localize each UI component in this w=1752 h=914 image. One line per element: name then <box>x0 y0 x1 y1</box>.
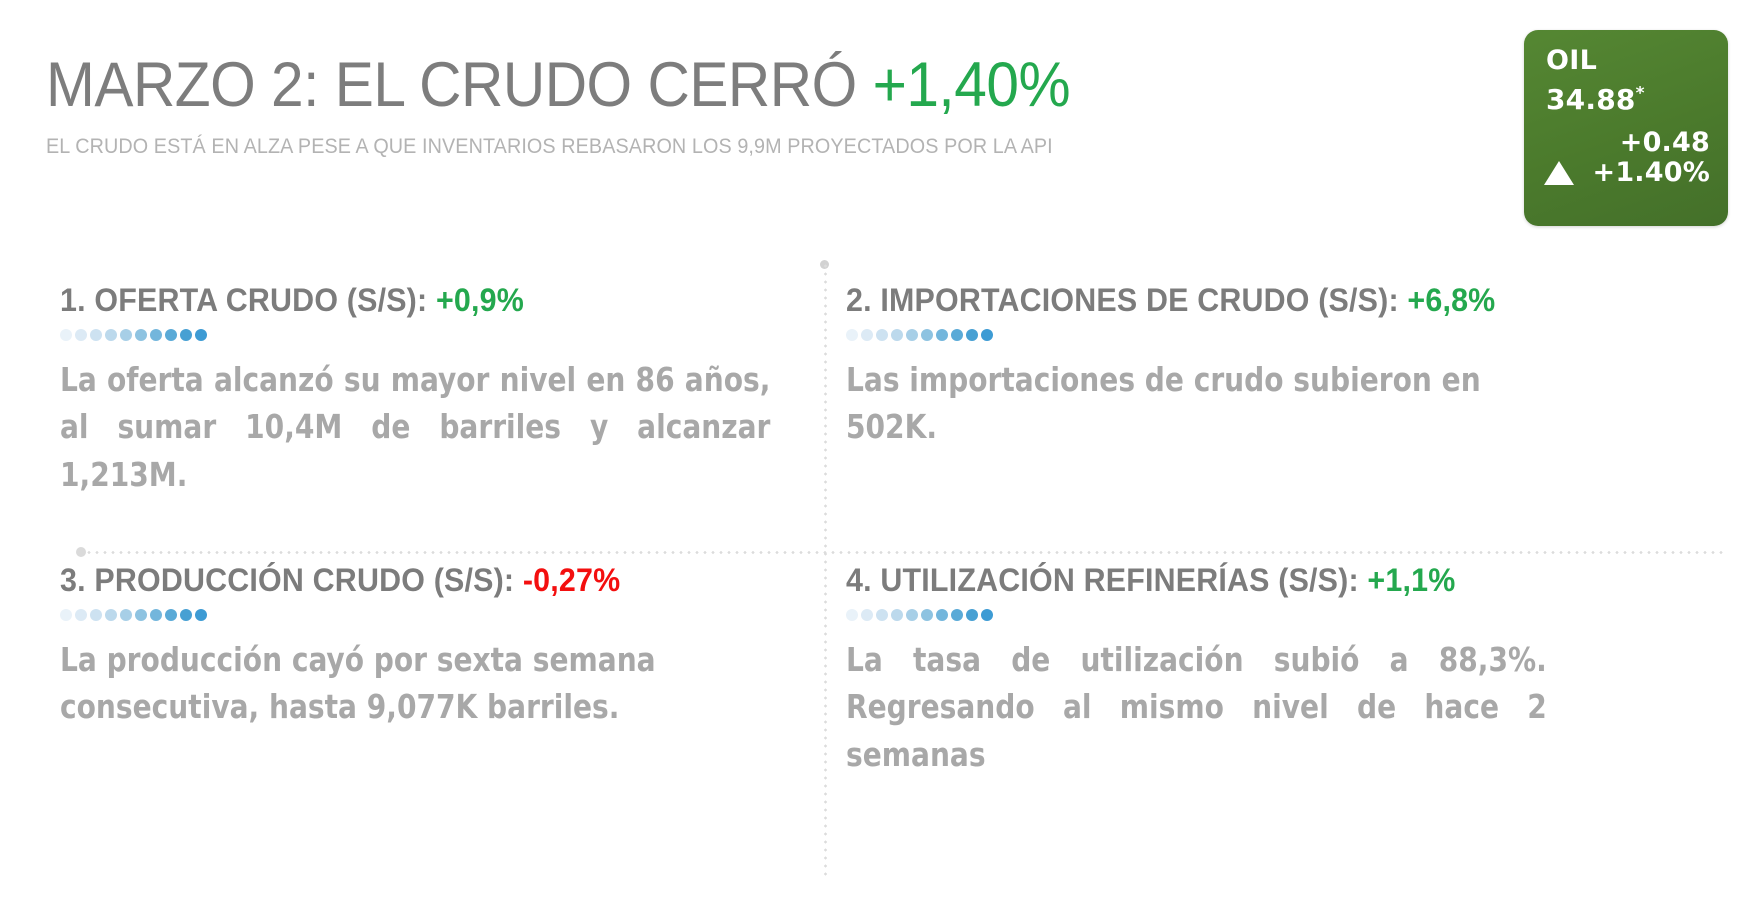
metric-description: La producción cayó por sexta semana cons… <box>60 637 732 779</box>
divider-vertical <box>824 262 827 878</box>
page-header: MARZO 2: EL CRUDO CERRÓ +1,40% EL CRUDO … <box>46 52 1476 159</box>
meter-dot <box>150 609 162 621</box>
metric-label: IMPORTACIONES DE CRUDO (S/S): <box>880 282 1398 318</box>
metric-label: OFERTA CRUDO (S/S): <box>94 282 427 318</box>
meter-dot <box>906 609 918 621</box>
metric-description: La oferta alcanzó su mayor nivel en 86 a… <box>60 357 770 547</box>
metric-label: PRODUCCIÓN CRUDO (S/S): <box>94 562 514 598</box>
metric-value: +1,1% <box>1367 562 1455 598</box>
metric-dot-meter <box>846 329 1736 341</box>
oil-symbol-label: OIL <box>1546 46 1710 76</box>
meter-dot <box>951 609 963 621</box>
meter-dot <box>165 609 177 621</box>
divider-horizontal <box>85 551 1725 554</box>
metric-dot-meter <box>60 329 795 341</box>
metric-description: La tasa de utilización subió a 88,3%. Re… <box>846 637 1547 827</box>
meter-dot <box>105 609 117 621</box>
meter-dot <box>876 609 888 621</box>
meter-dot <box>981 329 993 341</box>
meter-dot <box>936 609 948 621</box>
metric-heading: 2. IMPORTACIONES DE CRUDO (S/S): +6,8% <box>846 282 1692 319</box>
metric-value: -0,27% <box>523 562 620 598</box>
meter-dot <box>906 329 918 341</box>
meter-dot <box>90 329 102 341</box>
meter-dot <box>921 609 933 621</box>
meter-dot <box>135 609 147 621</box>
metric-card-utilizacion-refinerias: 4. UTILIZACIÓN REFINERÍAS (S/S): +1,1% L… <box>846 562 1736 827</box>
metric-index: 1. <box>60 282 86 318</box>
oil-price-value: 34.88* <box>1546 83 1710 116</box>
meter-dot <box>966 609 978 621</box>
meter-dot <box>75 609 87 621</box>
meter-dot <box>951 329 963 341</box>
metric-dot-meter <box>60 609 795 621</box>
meter-dot <box>180 609 192 621</box>
triangle-up-icon <box>1544 161 1574 185</box>
meter-dot <box>861 609 873 621</box>
metric-card-oferta-crudo: 1. OFERTA CRUDO (S/S): +0,9% La oferta a… <box>60 282 795 547</box>
meter-dot <box>135 329 147 341</box>
meter-dot <box>60 609 72 621</box>
meter-dot <box>150 329 162 341</box>
metric-index: 3. <box>60 562 86 598</box>
metric-heading: 1. OFERTA CRUDO (S/S): +0,9% <box>60 282 758 319</box>
meter-dot <box>195 609 207 621</box>
oil-price-asterisk: * <box>1636 83 1645 103</box>
meter-dot <box>936 329 948 341</box>
meter-dot <box>861 329 873 341</box>
metric-value: +0,9% <box>436 282 524 318</box>
page-title-text: MARZO 2: EL CRUDO CERRÓ <box>46 50 857 120</box>
meter-dot <box>180 329 192 341</box>
meter-dot <box>846 329 858 341</box>
metric-heading: 3. PRODUCCIÓN CRUDO (S/S): -0,27% <box>60 562 758 599</box>
meter-dot <box>891 329 903 341</box>
metric-card-produccion-crudo: 3. PRODUCCIÓN CRUDO (S/S): -0,27% La pro… <box>60 562 795 779</box>
meter-dot <box>846 609 858 621</box>
meter-dot <box>60 329 72 341</box>
oil-price-number: 34.88 <box>1546 83 1636 116</box>
page-subtitle: EL CRUDO ESTÁ EN ALZA PESE A QUE INVENTA… <box>46 134 1362 159</box>
meter-dot <box>90 609 102 621</box>
meter-dot <box>105 329 117 341</box>
meter-dot <box>891 609 903 621</box>
meter-dot <box>195 329 207 341</box>
meter-dot <box>981 609 993 621</box>
meter-dot <box>120 329 132 341</box>
oil-change-absolute: +0.48 <box>1546 128 1710 158</box>
oil-change-block: +0.48 +1.40% <box>1546 128 1710 188</box>
metric-heading: 4. UTILIZACIÓN REFINERÍAS (S/S): +1,1% <box>846 562 1692 599</box>
metric-index: 4. <box>846 562 872 598</box>
metric-description: Las importaciones de crudo subieron en 5… <box>846 357 1561 499</box>
metric-dot-meter <box>846 609 1736 621</box>
metric-card-importaciones-crudo: 2. IMPORTACIONES DE CRUDO (S/S): +6,8% L… <box>846 282 1736 499</box>
page-title-change-value: +1,40% <box>873 50 1071 120</box>
metric-label: UTILIZACIÓN REFINERÍAS (S/S): <box>880 562 1358 598</box>
metric-index: 2. <box>846 282 872 318</box>
page-title: MARZO 2: EL CRUDO CERRÓ +1,40% <box>46 52 1376 118</box>
oil-quote-badge[interactable]: OIL 34.88* +0.48 +1.40% <box>1524 30 1728 226</box>
meter-dot <box>966 329 978 341</box>
meter-dot <box>921 329 933 341</box>
meter-dot <box>165 329 177 341</box>
meter-dot <box>876 329 888 341</box>
metric-value: +6,8% <box>1407 282 1495 318</box>
meter-dot <box>120 609 132 621</box>
meter-dot <box>75 329 87 341</box>
